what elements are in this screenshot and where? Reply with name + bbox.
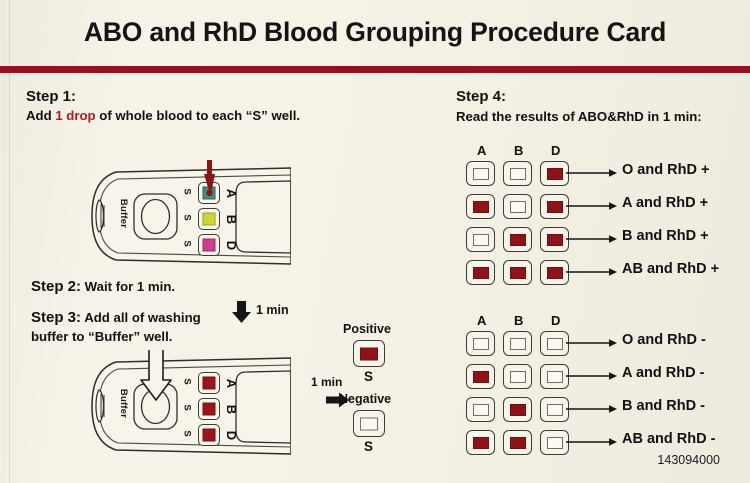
- result-well-a-neg: [473, 404, 489, 416]
- result-well-a-neg: [473, 234, 489, 246]
- result-well-d-pos: [547, 234, 563, 246]
- sample-well-s-label-a: S: [182, 378, 193, 384]
- result-well-a: [466, 194, 495, 219]
- result-label: O and RhD -: [622, 332, 706, 348]
- result-well-b-neg: [510, 371, 526, 383]
- cassette-device-step3: Buffer S S S A B D: [86, 350, 291, 462]
- result-well-b: [503, 331, 532, 356]
- step-1-heading: Step 1:: [26, 88, 300, 105]
- arrow-right-icon: [566, 267, 618, 277]
- result-well-b-neg: [510, 338, 526, 350]
- product-code: 143094000: [657, 453, 720, 467]
- column-header-b: B: [514, 143, 523, 158]
- result-label: A and RhD -: [622, 365, 704, 381]
- result-label: AB and RhD -: [622, 431, 715, 447]
- result-well-d: [540, 397, 569, 422]
- result-well-d: [540, 430, 569, 455]
- step-3-label: Step 3:: [31, 309, 81, 326]
- legend-well-negative-fill: [360, 417, 378, 430]
- legend-well-positive-fill: [360, 347, 378, 360]
- result-well-d: [540, 260, 569, 285]
- negative-s-label: S: [364, 439, 373, 454]
- step-3-block: Step 3: Add all of washing buffer to “Bu…: [31, 308, 246, 345]
- result-well-a-neg: [473, 168, 489, 180]
- arrow-right-icon: [566, 404, 618, 414]
- sample-well-s-label-d: S: [182, 430, 193, 436]
- result-well-b-neg: [510, 201, 526, 213]
- step-3-text-line2: buffer to “Buffer” well.: [31, 328, 246, 345]
- step-1-text: Add 1 drop of whole blood to each “S” we…: [26, 108, 300, 123]
- result-well-b: [503, 194, 532, 219]
- result-well-b-pos: [510, 437, 526, 449]
- column-header-d: D: [551, 313, 560, 328]
- result-well-d-pos: [547, 168, 563, 180]
- result-well-b: [503, 161, 532, 186]
- well-label-d: D: [224, 431, 239, 440]
- result-label: A and RhD +: [622, 195, 708, 211]
- result-well-d: [540, 227, 569, 252]
- result-well-d-neg: [547, 437, 563, 449]
- sample-well-a-result: [203, 377, 216, 390]
- result-well-b-pos: [510, 234, 526, 246]
- result-well-a: [466, 161, 495, 186]
- result-well-b: [503, 364, 532, 389]
- column-header-b: B: [514, 313, 523, 328]
- step-4-heading: Step 4:: [456, 88, 702, 105]
- blood-drop-pipette-icon: [86, 160, 291, 272]
- result-well-a: [466, 260, 495, 285]
- arrow-right-icon: [566, 371, 618, 381]
- result-legend: Positive S Negative S: [313, 322, 428, 467]
- result-well-a: [466, 364, 495, 389]
- well-label-b: B: [224, 405, 239, 414]
- step-4-block: Step 4: Read the results of ABO&RhD in 1…: [456, 88, 702, 124]
- positive-caption: Positive: [343, 322, 391, 336]
- step-1-text-pre: Add: [26, 108, 55, 123]
- result-well-a: [466, 227, 495, 252]
- step-2-label: Step 2:: [31, 278, 81, 295]
- result-well-b-pos: [510, 404, 526, 416]
- arrow-right-icon: [566, 234, 618, 244]
- result-well-b-pos: [510, 267, 526, 279]
- arrow-down-icon: [231, 300, 253, 324]
- column-header-a: A: [477, 143, 486, 158]
- result-well-a: [466, 331, 495, 356]
- result-well-a-pos: [473, 437, 489, 449]
- result-well-d: [540, 161, 569, 186]
- procedure-card: ABO and RhD Blood Grouping Procedure Car…: [0, 0, 750, 483]
- result-label: AB and RhD +: [622, 261, 719, 277]
- result-well-d: [540, 364, 569, 389]
- sample-well-a[interactable]: [198, 372, 220, 394]
- sample-well-d-result: [203, 429, 216, 442]
- arrow-right-icon: [566, 338, 618, 348]
- result-well-b: [503, 227, 532, 252]
- result-well-d: [540, 194, 569, 219]
- sample-well-b-result: [203, 403, 216, 416]
- step-2-block: Step 2: Wait for 1 min.: [31, 277, 175, 297]
- step-4-text: Read the results of ABO&RhD in 1 min:: [456, 109, 702, 124]
- result-well-b: [503, 430, 532, 455]
- result-well-a-pos: [473, 371, 489, 383]
- cassette-device-step1: Buffer S S S A B D: [86, 160, 291, 272]
- result-well-a: [466, 430, 495, 455]
- arrow-right-icon: [566, 168, 618, 178]
- well-label-a: A: [224, 379, 239, 388]
- result-well-d-pos: [547, 201, 563, 213]
- negative-caption: Negative: [339, 392, 391, 406]
- result-well-a: [466, 397, 495, 422]
- step-3-text: Add all of washing: [81, 310, 201, 325]
- result-well-b: [503, 260, 532, 285]
- result-well-d: [540, 331, 569, 356]
- step-1-block: Step 1: Add 1 drop of whole blood to eac…: [26, 88, 300, 123]
- positive-s-label: S: [364, 369, 373, 384]
- arrow-right-icon: [566, 201, 618, 211]
- result-well-a-pos: [473, 267, 489, 279]
- wait-one-minute-indicator: 1 min: [231, 300, 321, 324]
- wait-one-minute-label: 1 min: [256, 303, 289, 317]
- result-well-b-neg: [510, 168, 526, 180]
- buffer-well-label: Buffer: [118, 389, 129, 418]
- legend-well-positive: [353, 340, 385, 367]
- result-well-d-neg: [547, 338, 563, 350]
- result-well-d-neg: [547, 404, 563, 416]
- result-well-a-pos: [473, 201, 489, 213]
- result-label: O and RhD +: [622, 162, 709, 178]
- legend-well-negative: [353, 410, 385, 437]
- result-well-d-neg: [547, 371, 563, 383]
- column-header-d: D: [551, 143, 560, 158]
- arrow-right-icon: [566, 437, 618, 447]
- result-well-b: [503, 397, 532, 422]
- result-label: B and RhD +: [622, 228, 709, 244]
- page-title: ABO and RhD Blood Grouping Procedure Car…: [0, 17, 750, 48]
- sample-well-b[interactable]: [198, 398, 220, 420]
- step-1-text-highlight: 1 drop: [55, 108, 95, 123]
- result-label: B and RhD -: [622, 398, 705, 414]
- result-well-d-pos: [547, 267, 563, 279]
- step-1-text-post: of whole blood to each “S” well.: [96, 108, 300, 123]
- header-divider-bar: [0, 66, 750, 73]
- sample-well-s-label-b: S: [182, 404, 193, 410]
- sample-well-d[interactable]: [198, 424, 220, 446]
- step-2-text: Wait for 1 min.: [81, 279, 175, 294]
- column-header-a: A: [477, 313, 486, 328]
- result-well-a-neg: [473, 338, 489, 350]
